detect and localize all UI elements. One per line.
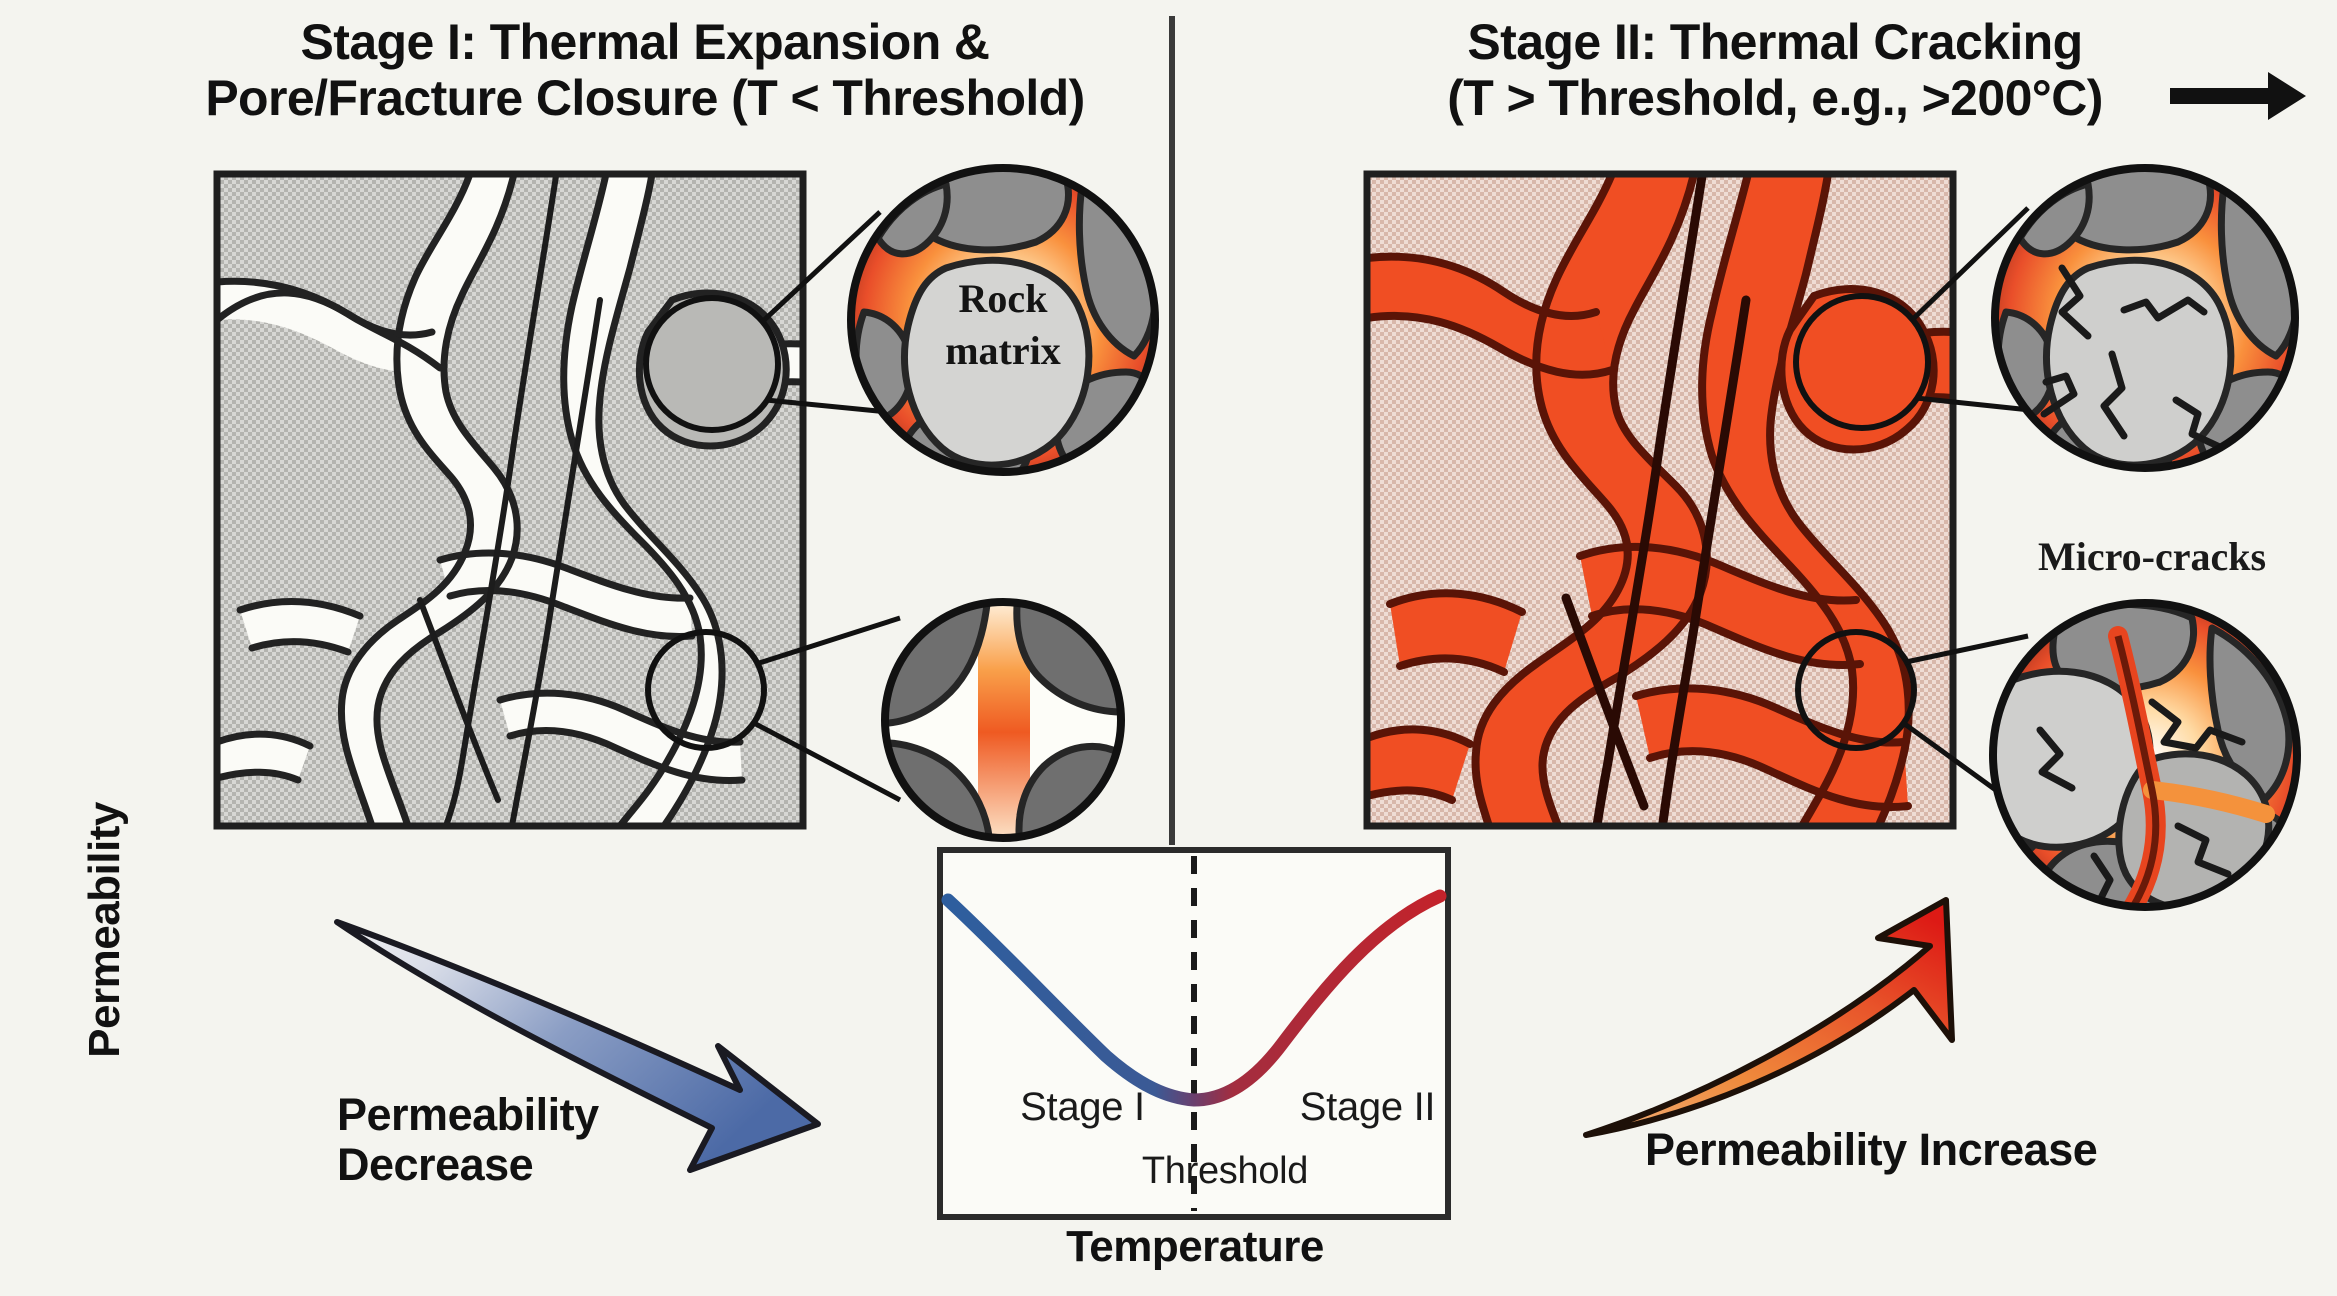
permeability-increase-arrow: [1586, 900, 1952, 1135]
chart-threshold-label: Threshold: [1080, 1150, 1370, 1193]
stage-2-title-line1: Stage II: Thermal Cracking: [1467, 14, 2082, 70]
chart-stage-1-label: Stage I: [975, 1085, 1190, 1130]
permeability-decrease-line1: Permeability: [337, 1089, 599, 1140]
inset-microcracks-lower: [1976, 598, 2310, 919]
stage-1-title: Stage I: Thermal Expansion & Pore/Fractu…: [140, 14, 1150, 126]
inset-microcracks-upper: [1990, 160, 2310, 482]
chart-y-axis-label: Permeability: [80, 765, 130, 1095]
inset-rock-matrix: Rock matrix: [845, 160, 1165, 482]
micro-cracks-caption: Micro-cracks: [2038, 533, 2266, 580]
left-rock-panel: [217, 174, 803, 826]
figure-canvas: Rock matrix: [0, 0, 2337, 1296]
stage-2-title: Stage II: Thermal Cracking (T > Threshol…: [1330, 14, 2220, 126]
permeability-decrease-label: Permeability Decrease: [337, 1090, 757, 1191]
rock-matrix-label-line1: Rock: [959, 276, 1049, 321]
stage-1-title-line1: Stage I: Thermal Expansion &: [301, 14, 990, 70]
permeability-increase-label: Permeability Increase: [1645, 1125, 2265, 1175]
stage-2-title-line2: (T > Threshold, e.g., >200°C): [1330, 70, 2220, 126]
chart-x-axis-label: Temperature: [940, 1222, 1450, 1272]
right-rock-panel: [1367, 174, 1953, 880]
chart-stage-2-label: Stage II: [1255, 1085, 1480, 1130]
inset-closed-throat: [870, 595, 1137, 845]
rock-matrix-label-line2: matrix: [945, 328, 1061, 373]
permeability-decrease-line2: Decrease: [337, 1139, 533, 1190]
stage-1-title-line2: Pore/Fracture Closure (T < Threshold): [140, 70, 1150, 126]
